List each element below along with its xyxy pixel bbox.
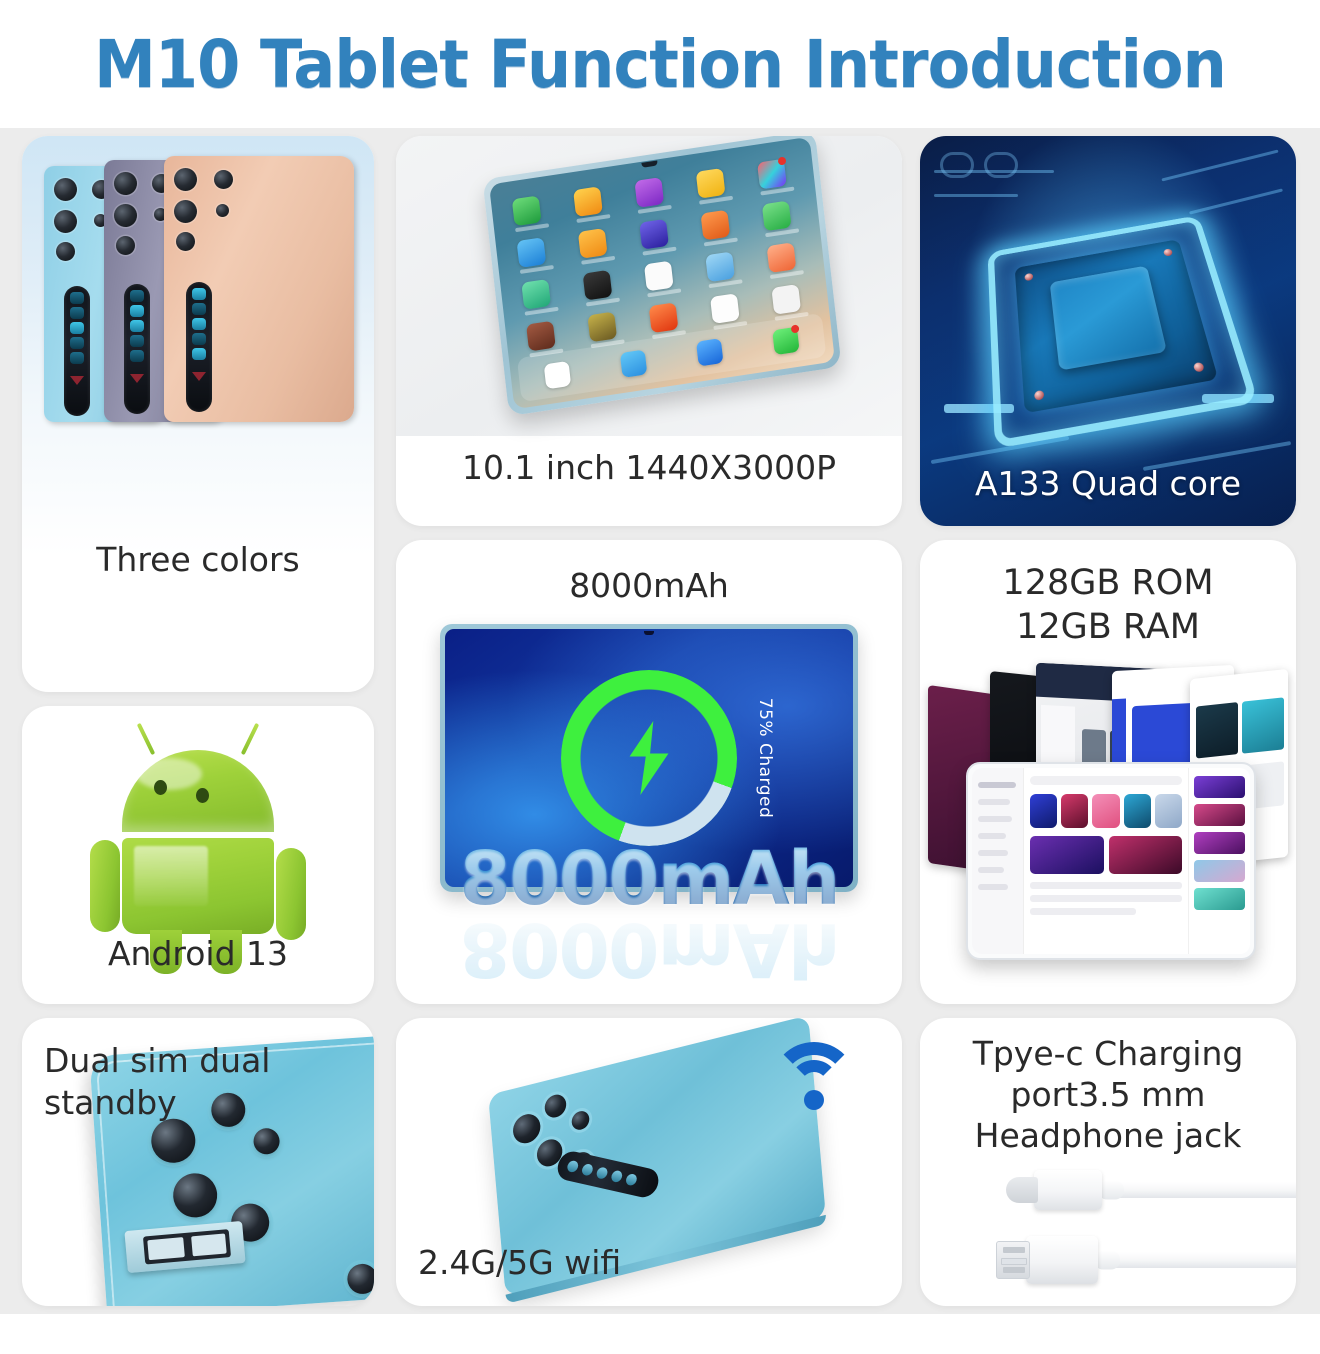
- wifi-icon: [768, 1042, 860, 1112]
- usb-c-connector-tip: [1006, 1177, 1038, 1203]
- antenna-left: [137, 723, 155, 755]
- app-icon[interactable]: [705, 251, 735, 282]
- front-camera-notch: [641, 160, 657, 167]
- dock-icon-music[interactable]: [544, 360, 572, 389]
- feature-card-android[interactable]: Android 13: [22, 706, 374, 1004]
- camera-lens: [571, 1109, 590, 1132]
- robot-eye-right: [196, 788, 209, 803]
- antenna-right: [241, 723, 259, 755]
- chip-screw: [1193, 362, 1205, 373]
- featured-row: [1030, 836, 1182, 874]
- app-icon[interactable]: [701, 210, 731, 241]
- dual-sim-line2: standby: [44, 1082, 294, 1124]
- chip-substrate: [1015, 240, 1219, 414]
- app-search-bar[interactable]: [1030, 776, 1182, 785]
- infographic-page: M10 Tablet Function Introduction: [0, 0, 1320, 1354]
- app-icon[interactable]: [639, 219, 669, 250]
- app-icon[interactable]: [526, 321, 556, 352]
- feature-grid: Three colors: [0, 128, 1320, 1314]
- usb-c-cable: [1006, 1170, 1296, 1210]
- app-icon[interactable]: [757, 159, 787, 190]
- tablet-screen-music: [972, 768, 1250, 954]
- camera-lens: [114, 172, 137, 195]
- usb-a-connector-tip: [996, 1241, 1030, 1279]
- app-sidebar: [972, 768, 1024, 954]
- memory-ram-label: 12GB RAM: [920, 606, 1296, 650]
- tablet-screen: [489, 137, 835, 410]
- card-caption-port: Tpye-c Charging port3.5 mm Headphone jac…: [920, 1034, 1296, 1157]
- app-icon[interactable]: [634, 177, 664, 208]
- feature-card-wifi[interactable]: 2.4G/5G wifi: [396, 1018, 902, 1306]
- robot-arm-right: [276, 848, 306, 940]
- app-main-panel: [1024, 768, 1188, 954]
- battery-capacity-headline: 8000mAh: [396, 836, 902, 922]
- chip-screw: [1163, 249, 1173, 257]
- led-strip: [554, 1149, 662, 1200]
- usb-c-plug-body: [1034, 1170, 1102, 1210]
- chip-die: [1050, 265, 1168, 370]
- app-icon[interactable]: [512, 195, 542, 226]
- chip-screw: [1034, 390, 1044, 401]
- card-caption-cpu: A133 Quad core: [920, 464, 1296, 504]
- card-caption-wifi: 2.4G/5G wifi: [418, 1243, 621, 1282]
- display-stage: [396, 136, 902, 436]
- led-strip: [64, 286, 90, 416]
- camera-lens: [176, 232, 195, 251]
- card-caption-memory: 128GB ROM 12GB RAM: [920, 562, 1296, 650]
- port-line3: Headphone jack: [920, 1116, 1296, 1157]
- dock-icon-browser[interactable]: [696, 338, 724, 367]
- usb-a-cable: [996, 1236, 1296, 1284]
- app-icon[interactable]: [578, 228, 608, 259]
- wifi-dot: [804, 1090, 824, 1110]
- app-icon[interactable]: [767, 242, 797, 273]
- card-caption-android: Android 13: [22, 934, 374, 974]
- dock-icon-mail[interactable]: [620, 349, 648, 378]
- camera-lens: [214, 170, 233, 189]
- led-strip: [186, 282, 212, 412]
- charge-percent-label: 75% Charged: [755, 698, 775, 818]
- recommend-row: [1030, 794, 1182, 828]
- card-caption-dual-sim: Dual sim dual standby: [44, 1040, 294, 1124]
- body-highlight: [134, 846, 208, 906]
- camera-lens: [116, 236, 135, 255]
- app-icon[interactable]: [583, 270, 613, 301]
- feature-card-display[interactable]: 10.1 inch 1440X3000P: [396, 136, 902, 526]
- dual-sim-line1: Dual sim dual: [44, 1040, 294, 1082]
- usb-a-plug-body: [1026, 1236, 1098, 1284]
- app-icon[interactable]: [696, 168, 726, 199]
- app-icon[interactable]: [587, 312, 617, 343]
- camera-lens: [216, 204, 229, 217]
- app-icon[interactable]: [771, 284, 801, 315]
- feature-card-cpu[interactable]: A133 Quad core: [920, 136, 1296, 526]
- app-icon[interactable]: [762, 201, 792, 232]
- camera-lens: [544, 1092, 567, 1120]
- head-highlight: [136, 758, 202, 790]
- feature-card-dual-sim[interactable]: Dual sim dual standby: [22, 1018, 374, 1306]
- feature-card-memory[interactable]: 128GB ROM 12GB RAM: [920, 540, 1296, 1004]
- app-icon[interactable]: [649, 302, 679, 333]
- front-camera-notch: [644, 631, 654, 635]
- camera-lens: [54, 178, 77, 201]
- page-title: M10 Tablet Function Introduction: [94, 26, 1226, 103]
- app-icon[interactable]: [521, 279, 551, 310]
- led-strip: [124, 284, 150, 414]
- robot-arm-left: [90, 840, 120, 932]
- camera-lens: [512, 1111, 542, 1146]
- card-caption-three-colors: Three colors: [22, 540, 374, 580]
- robot-eye-left: [154, 780, 167, 795]
- app-icon[interactable]: [710, 293, 740, 324]
- card-caption-display: 10.1 inch 1440X3000P: [396, 448, 902, 488]
- camera-lens: [174, 200, 197, 223]
- camera-lens: [174, 168, 197, 191]
- chip-glow-frame: [988, 216, 1259, 450]
- dock-icon-message[interactable]: [772, 326, 800, 355]
- tablet-front-view: [482, 136, 841, 416]
- feature-card-battery[interactable]: 8000mAh 75% Charged 8000mAh 8000mAh: [396, 540, 902, 1004]
- cpu-chip: [972, 193, 1244, 445]
- camera-lens: [56, 242, 75, 261]
- app-icon[interactable]: [573, 186, 603, 217]
- tablet-rose-gold: [164, 156, 354, 422]
- port-line2: port3.5 mm: [920, 1075, 1296, 1116]
- tablet-color-lineup: [42, 150, 354, 422]
- camera-lens: [54, 210, 77, 233]
- ranking-list-panel: [1188, 768, 1250, 954]
- feature-card-three-colors[interactable]: Three colors: [22, 136, 374, 692]
- sim-slot: [143, 1229, 231, 1264]
- page-header: M10 Tablet Function Introduction: [0, 0, 1320, 128]
- port-line1: Tpye-c Charging: [920, 1034, 1296, 1075]
- chip-screw: [1024, 273, 1033, 282]
- card-caption-battery-top: 8000mAh: [396, 566, 902, 605]
- app-icon[interactable]: [517, 237, 547, 268]
- tablet-music-app-view: [966, 762, 1256, 960]
- feature-card-port[interactable]: Tpye-c Charging port3.5 mm Headphone jac…: [920, 1018, 1296, 1306]
- memory-rom-label: 128GB ROM: [920, 562, 1296, 606]
- android-robot-icon: [92, 722, 304, 958]
- app-icon[interactable]: [644, 261, 674, 292]
- camera-lens: [114, 204, 137, 227]
